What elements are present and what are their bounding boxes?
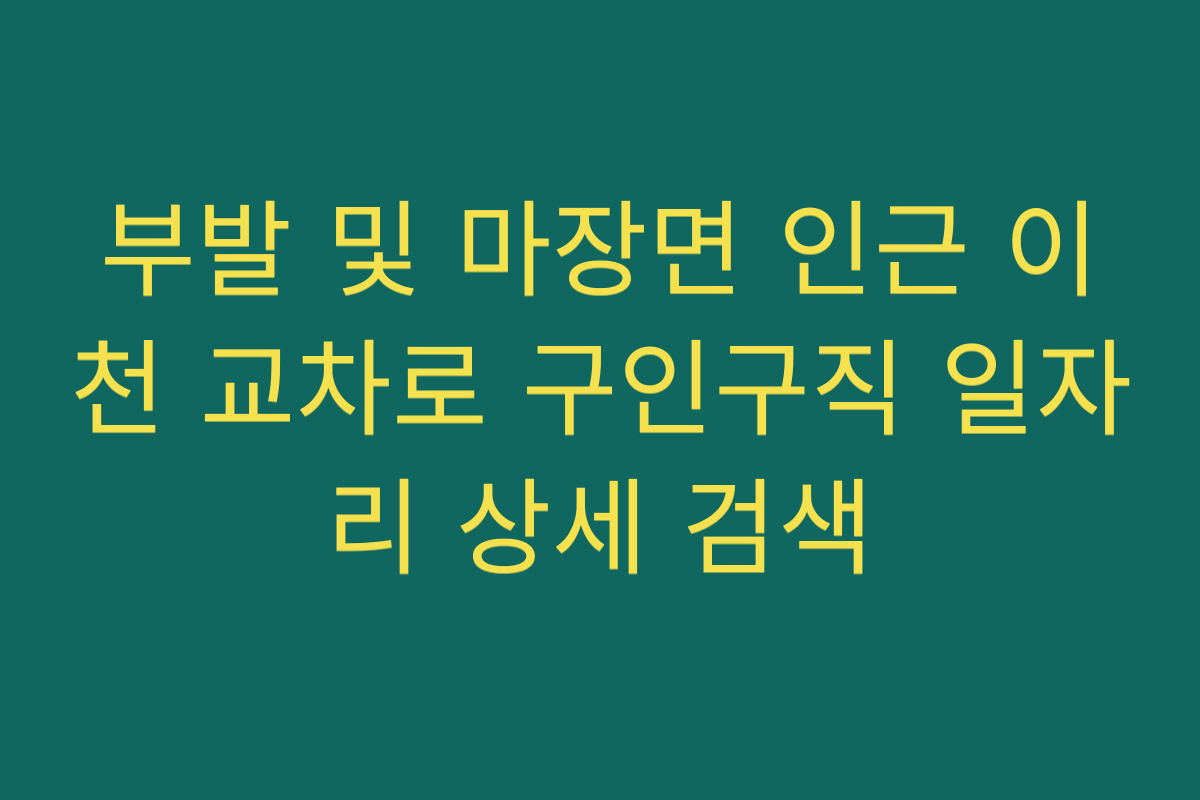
headline-line-3: 리 상세 검색 [70,460,1130,599]
headline-block: 부발 및 마장면 인근 이 천 교차로 구인구직 일자 리 상세 검색 [70,182,1130,599]
headline-line-2: 천 교차로 구인구직 일자 [70,321,1130,460]
text-banner: 부발 및 마장면 인근 이 천 교차로 구인구직 일자 리 상세 검색 [0,0,1200,800]
headline-line-1: 부발 및 마장면 인근 이 [70,182,1130,321]
